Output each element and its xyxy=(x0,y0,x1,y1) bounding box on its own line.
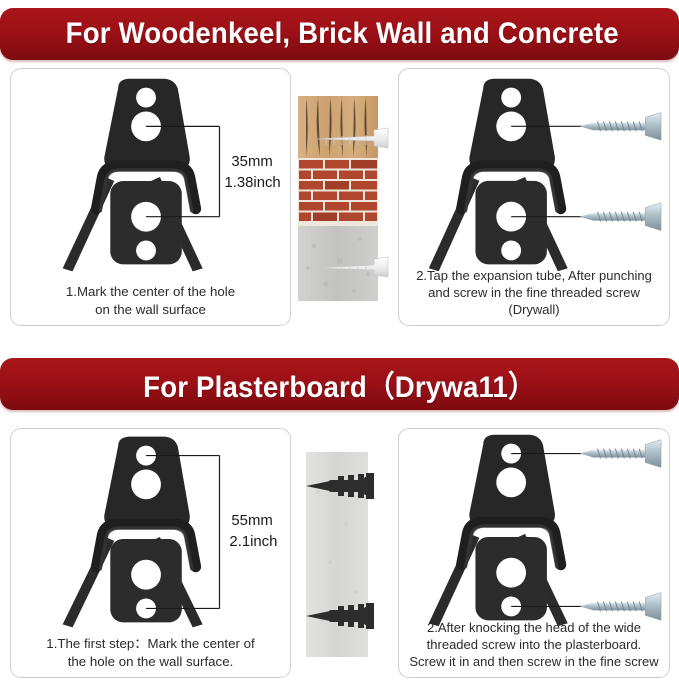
hole-top-small xyxy=(501,88,521,108)
caption-line: 2.Tap the expansion tube, After punching xyxy=(405,267,663,284)
panel-step2-plasterboard: 2.After knocking the head of the wide th… xyxy=(398,428,670,678)
hole-bottom-small xyxy=(501,240,521,260)
caption-line: 1.The first step：Mark the center of xyxy=(17,635,284,653)
hole-top-large xyxy=(496,467,526,497)
instruction-sheet: For Woodenkeel, Brick Wall and Concrete xyxy=(0,0,679,685)
caption-step2-wood: 2.Tap the expansion tube, After punching… xyxy=(405,267,663,318)
bracket-diagram-55mm: 55mm 2.1inch xyxy=(11,429,290,634)
dimension-value-mm: 55mm xyxy=(231,513,272,529)
caption-line: 1.Mark the center of the hole xyxy=(17,283,284,301)
dimension-value-inch: 2.1inch xyxy=(229,534,277,550)
caption-line: 2.After knocking the head of the wide xyxy=(405,619,663,636)
material-brick xyxy=(298,158,378,226)
panel-step2-wood: 2.Tap the expansion tube, After punching… xyxy=(398,68,670,326)
section-banner-wood-brick-concrete: For Woodenkeel, Brick Wall and Concrete xyxy=(0,8,679,60)
dimension-value-inch: 1.38inch xyxy=(224,175,280,191)
banner-title-2: For Plasterboard（Drywa11） xyxy=(27,362,652,406)
hole-bottom-small xyxy=(136,241,156,261)
caption-line: and screw in the fine threaded screw xyxy=(405,284,663,301)
bracket-illustration xyxy=(63,79,203,272)
hole-bottom-large xyxy=(496,558,526,588)
caption-line: the hole on the wall surface. xyxy=(17,653,284,671)
material-wood xyxy=(298,96,378,158)
bracket-illustration xyxy=(429,79,568,272)
banner-title-1: For Woodenkeel, Brick Wall and Concrete xyxy=(27,17,652,51)
fine-threaded-screw xyxy=(580,203,661,231)
caption-step1-wood: 1.Mark the center of the hole on the wal… xyxy=(17,283,284,318)
caption-step2-plasterboard: 2.After knocking the head of the wide th… xyxy=(405,619,663,670)
fine-threaded-screw xyxy=(580,593,661,621)
material-concrete xyxy=(298,226,378,301)
bracket-illustration xyxy=(429,435,568,627)
section-banner-plasterboard: For Plasterboard（Drywa11） xyxy=(0,358,679,410)
bracket-with-screws-diagram-plasterboard xyxy=(399,429,669,629)
caption-line: (Drywall) xyxy=(405,301,663,318)
caption-line: threaded screw into the plasterboard. xyxy=(405,636,663,653)
wall-materials-strip xyxy=(296,96,396,301)
hole-top-small xyxy=(136,88,156,108)
bracket-diagram-35mm: 35mm 1.38inch xyxy=(11,69,290,284)
fine-threaded-screw xyxy=(580,440,661,468)
panel-step1-plasterboard: 55mm 2.1inch 1.The first step：Mark the c… xyxy=(10,428,291,678)
plasterboard-strip xyxy=(300,452,392,657)
bracket-with-screws-diagram xyxy=(399,69,669,274)
caption-line: on the wall surface xyxy=(17,301,284,319)
dimension-value-mm: 35mm xyxy=(231,154,272,170)
hole-bottom-large xyxy=(131,560,161,590)
bracket-illustration xyxy=(63,437,203,628)
caption-line: Screw it in and then screw in the fine s… xyxy=(405,653,663,670)
fine-threaded-screw xyxy=(580,112,661,140)
hole-top-large xyxy=(131,469,161,499)
panel-step1-wood: 35mm 1.38inch 1.Mark the center of the h… xyxy=(10,68,291,326)
caption-step1-plasterboard: 1.The first step：Mark the center of the … xyxy=(17,635,284,670)
